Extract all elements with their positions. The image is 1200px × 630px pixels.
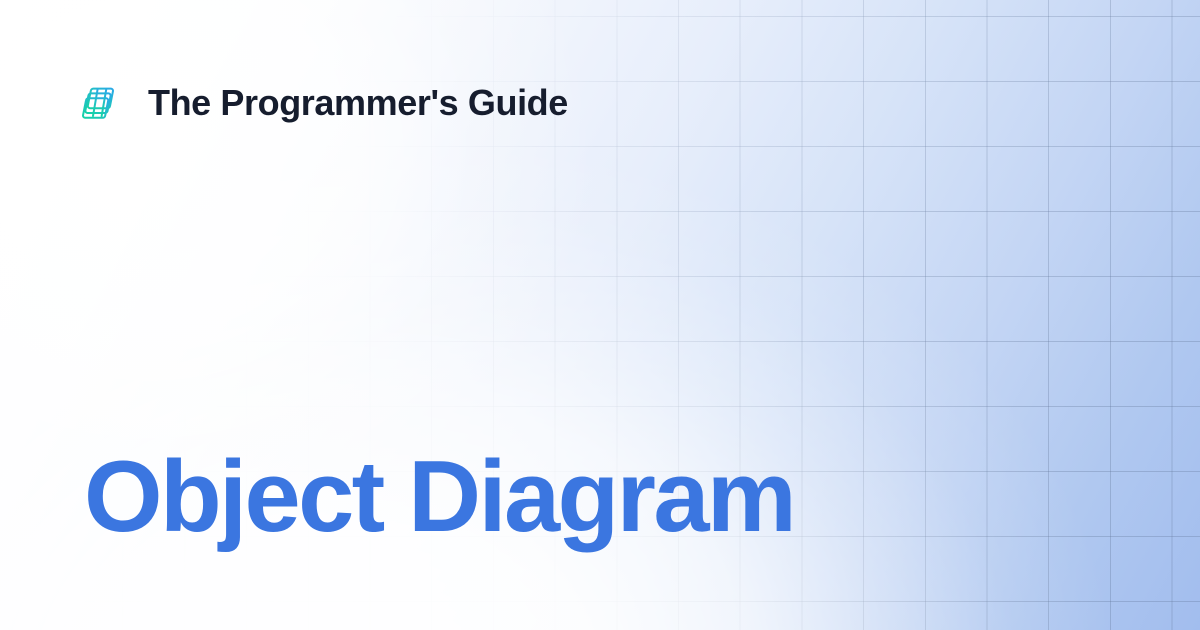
og-card-canvas: The Programmer's Guide Object Diagram [0, 0, 1200, 630]
stacked-layers-logo-icon [80, 83, 120, 123]
page-title: Object Diagram [84, 443, 794, 552]
hero-section: Object Diagram [84, 443, 794, 552]
brand-header: The Programmer's Guide [80, 82, 568, 124]
brand-title: The Programmer's Guide [148, 85, 568, 121]
